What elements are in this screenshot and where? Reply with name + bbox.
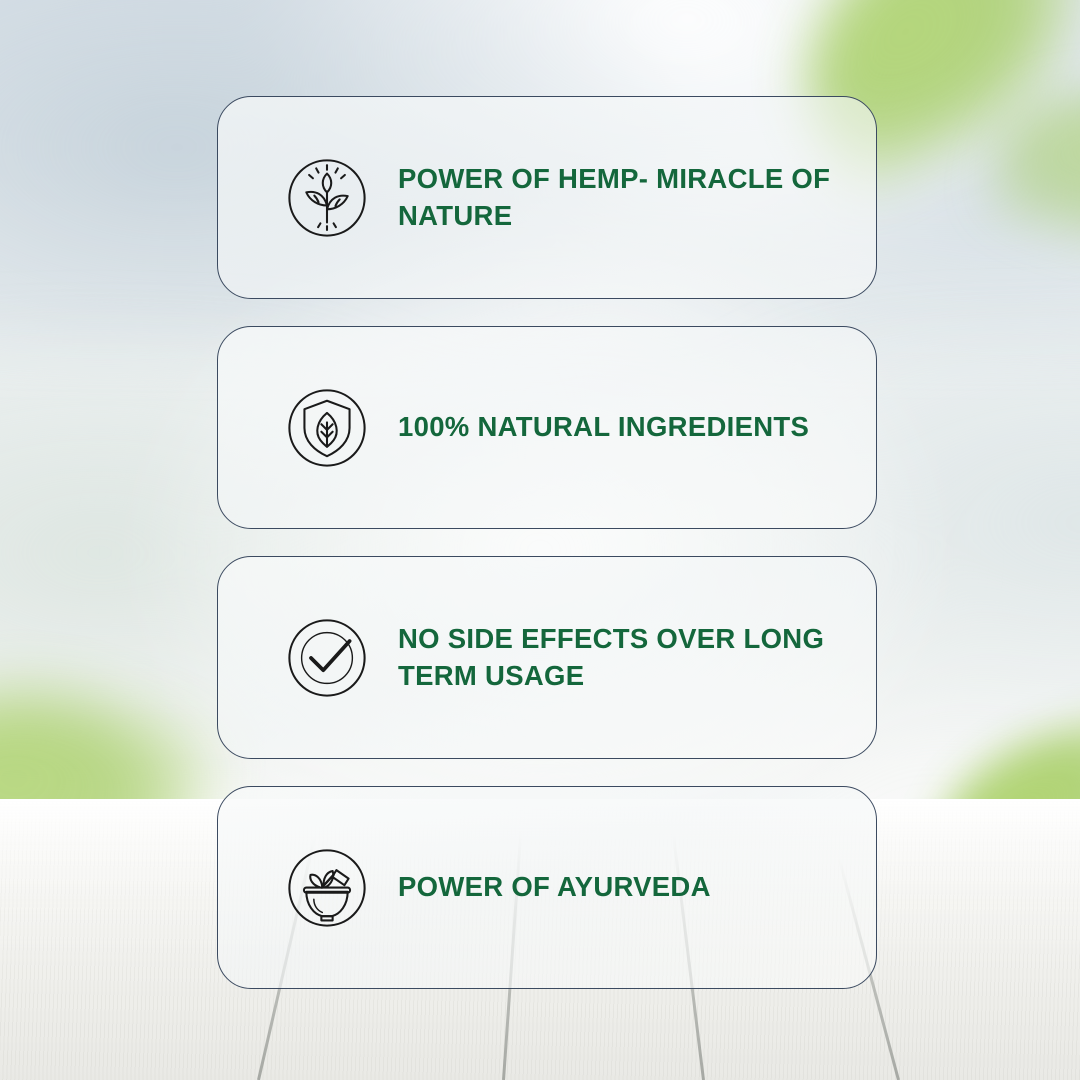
feature-card-no-side-effects[interactable]: NO SIDE EFFECTS OVER LONG TERM USAGE xyxy=(217,556,877,759)
feature-card-label: 100% NATURAL INGREDIENTS xyxy=(398,409,809,445)
feature-card-label: NO SIDE EFFECTS OVER LONG TERM USAGE xyxy=(398,621,868,694)
feature-card-label: POWER OF HEMP- MIRACLE OF NATURE xyxy=(398,161,868,234)
feature-card-hemp[interactable]: POWER OF HEMP- MIRACLE OF NATURE xyxy=(217,96,877,299)
shield-leaf-icon xyxy=(280,381,374,475)
check-circle-icon xyxy=(280,611,374,705)
mortar-pestle-icon xyxy=(280,841,374,935)
feature-card-list: POWER OF HEMP- MIRACLE OF NATURE 100% NA… xyxy=(217,96,877,989)
feature-card-natural[interactable]: 100% NATURAL INGREDIENTS xyxy=(217,326,877,529)
infographic-canvas: POWER OF HEMP- MIRACLE OF NATURE 100% NA… xyxy=(0,0,1080,1080)
feature-card-ayurveda[interactable]: POWER OF AYURVEDA xyxy=(217,786,877,989)
plant-sprout-icon xyxy=(280,151,374,245)
feature-card-label: POWER OF AYURVEDA xyxy=(398,869,711,905)
